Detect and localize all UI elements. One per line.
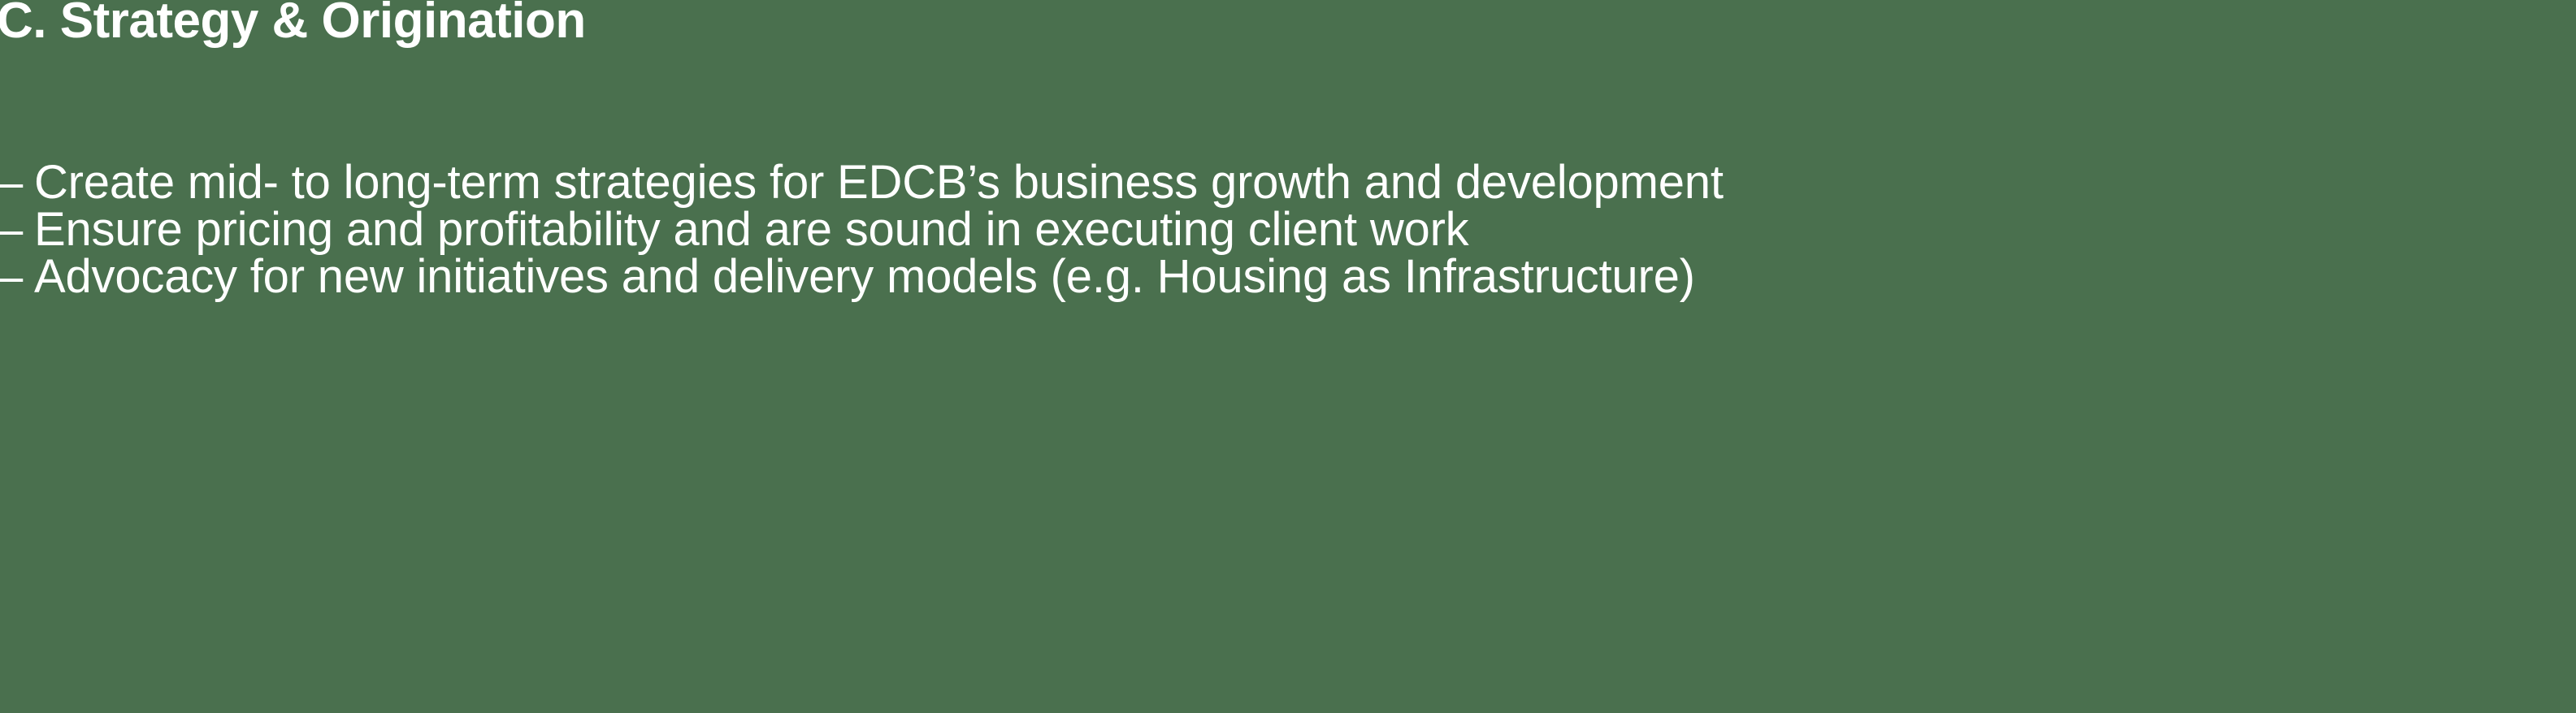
list-item-text: Advocacy for new initiatives and deliver… [34, 250, 1695, 303]
list-item-text: Create mid- to long-term strategies for … [34, 156, 1724, 209]
page-title: C. Strategy & Origination [0, 0, 1947, 50]
en-dash-bullet-icon: – [0, 159, 34, 206]
list-item-text: Ensure pricing and profitability and are… [34, 203, 1468, 256]
list-item: –Advocacy for new initiatives and delive… [0, 253, 2576, 300]
en-dash-bullet-icon: – [0, 206, 34, 253]
list-item: –Create mid- to long-term strategies for… [0, 159, 2576, 206]
bullet-list: –Create mid- to long-term strategies for… [0, 159, 2576, 300]
en-dash-bullet-icon: – [0, 253, 34, 300]
slide-canvas: C. Strategy & Origination –Create mid- t… [0, 0, 2576, 713]
list-item: –Ensure pricing and profitability and ar… [0, 206, 2576, 253]
